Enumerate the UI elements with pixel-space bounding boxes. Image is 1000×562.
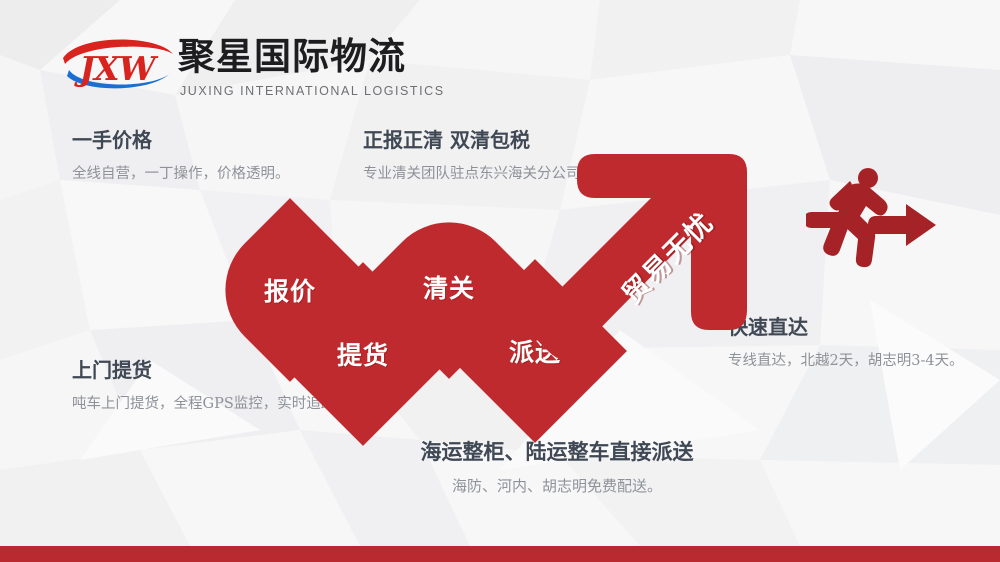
feature-price-body: 全线自营，一丁操作，价格透明。 [72, 163, 334, 186]
brand-name-en: JUXING INTERNATIONAL LOGISTICS [180, 84, 445, 98]
brand-name-cn: 聚星国际物流 [178, 38, 406, 75]
feature-delivery-body: 海防、河内、胡志明免费配送。 [392, 474, 722, 498]
feature-delivery-heading: 海运整柜、陆运整车直接派送 [392, 440, 722, 465]
feature-delivery: 海运整柜、陆运整车直接派送 海防、河内、胡志明免费配送。 [392, 440, 722, 498]
feature-price: 一手价格 全线自营，一丁操作，价格透明。 [72, 128, 334, 186]
arrow-up-right-icon [533, 140, 763, 375]
feature-price-heading: 一手价格 [72, 128, 334, 152]
process-step-quote-label: 报价 [264, 272, 316, 308]
slide-canvas: JXW 聚星国际物流 JUXING INTERNATIONAL LOGISTIC… [0, 0, 1000, 562]
feature-direct-heading: 快速直达 [728, 315, 964, 339]
feature-pickup-body: 吨车上门提货，全程GPS监控，实时追踪。 [72, 393, 350, 416]
svg-text:JXW: JXW [73, 49, 158, 88]
bottom-accent-bar [0, 546, 1000, 562]
process-step-pickup-label: 提货 [337, 336, 389, 372]
feature-direct: 快速直达 专线直达，北越2天，胡志明3-4天。 [728, 315, 964, 373]
running-man-icon [806, 168, 940, 268]
feature-direct-body: 专线直达，北越2天，胡志明3-4天。 [728, 350, 964, 373]
process-step-customs-label: 清关 [423, 269, 475, 305]
jxw-logo: JXW [55, 28, 180, 100]
